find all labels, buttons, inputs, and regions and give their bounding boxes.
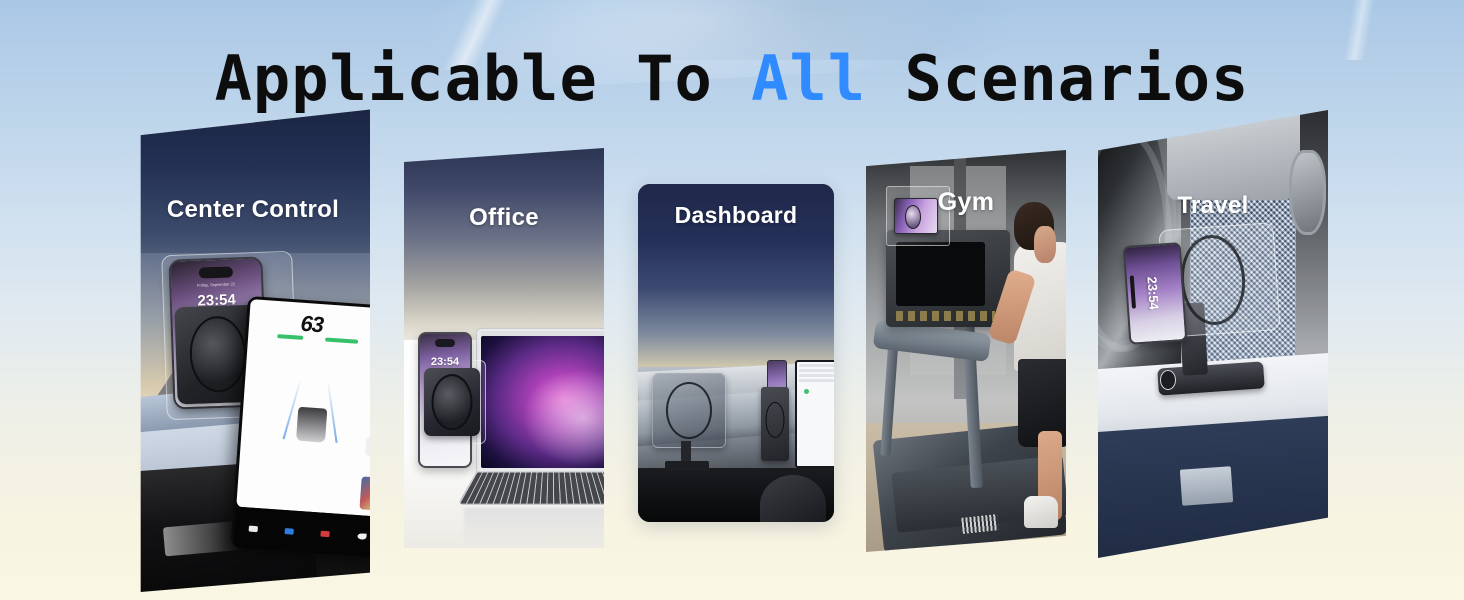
magsafe-mount-icon xyxy=(652,373,726,447)
dashboard-scene xyxy=(638,184,834,522)
scenario-card-center-control[interactable]: Friday, September 22 23:54 63 CANCEL xyxy=(136,108,370,592)
page-title: Applicable To All Scenarios xyxy=(0,44,1464,114)
screen-row xyxy=(799,364,834,367)
laptop-device xyxy=(476,328,604,472)
office-scene: 23:54 xyxy=(404,148,604,548)
phone-notch-icon xyxy=(435,339,455,347)
mount-adhesive-base xyxy=(665,461,708,471)
car-icon[interactable] xyxy=(248,525,257,532)
page-title-prefix: Applicable To xyxy=(215,42,752,115)
car-screen-content: 63 CANCEL Dear Lofi xyxy=(236,299,370,520)
laptop-keyboard xyxy=(457,471,604,505)
scenario-card-office[interactable]: 23:54 Office xyxy=(404,148,604,548)
page-title-accent: All xyxy=(751,42,866,115)
media-widget[interactable]: Dear Lofi xyxy=(359,476,370,513)
phone-clock: 23:54 xyxy=(420,356,470,368)
scenario-card-gym[interactable]: Gym xyxy=(866,150,1066,552)
phone-call-icon[interactable] xyxy=(357,532,366,539)
treadmill-display xyxy=(896,242,985,306)
album-art xyxy=(359,476,370,511)
phone-clock: 23:54 xyxy=(1144,277,1161,311)
person-shoe xyxy=(1024,496,1058,528)
phone-date: Friday, September 22 xyxy=(171,280,261,288)
car-infotainment-screen[interactable]: 63 CANCEL Dear Lofi xyxy=(230,296,370,560)
center-control-scene: Friday, September 22 23:54 63 CANCEL xyxy=(136,108,370,592)
ego-vehicle-icon xyxy=(296,407,328,442)
seat-heater-icon[interactable] xyxy=(285,527,294,534)
lane-line-right-icon xyxy=(327,380,338,442)
page-title-suffix: Scenarios xyxy=(866,42,1249,115)
dusk-sky-gradient xyxy=(638,184,834,387)
cabin-window-icon xyxy=(1289,150,1326,235)
person-face xyxy=(1034,226,1056,262)
travel-scene: 23:54 xyxy=(1098,110,1328,558)
office-backdrop-gradient xyxy=(404,148,604,356)
phone-notch-icon xyxy=(1130,276,1136,308)
treadmill-buttons[interactable] xyxy=(896,311,995,321)
vent-mount-icon xyxy=(761,387,788,461)
scenario-card-dashboard[interactable]: Dashboard xyxy=(638,184,834,522)
tray-table-edge xyxy=(1180,467,1233,506)
screen-row xyxy=(799,369,834,372)
gym-scene xyxy=(866,150,1066,552)
desk-reflection xyxy=(464,508,604,544)
climate-icon[interactable] xyxy=(321,530,330,537)
cancel-button[interactable]: CANCEL xyxy=(365,436,370,459)
scenario-card-travel[interactable]: 23:54 Travel xyxy=(1098,110,1328,558)
magsafe-charger-icon xyxy=(424,368,480,436)
overhead-bin xyxy=(1167,110,1300,200)
car-speed-readout: 63 xyxy=(300,311,324,339)
laptop-wallpaper xyxy=(481,336,604,468)
phone-device xyxy=(894,198,938,234)
keyboard-keys xyxy=(460,472,604,503)
scenario-banner: Applicable To All Scenarios Friday, Sept… xyxy=(0,0,1464,600)
phone-notch-icon xyxy=(199,267,233,278)
phone-device: 23:54 xyxy=(1122,243,1186,345)
car-center-screen[interactable] xyxy=(795,360,834,468)
battery-bar-right-icon xyxy=(325,337,358,343)
screen-row xyxy=(799,374,834,377)
screen-row xyxy=(799,379,834,382)
status-dot-icon xyxy=(804,389,809,394)
